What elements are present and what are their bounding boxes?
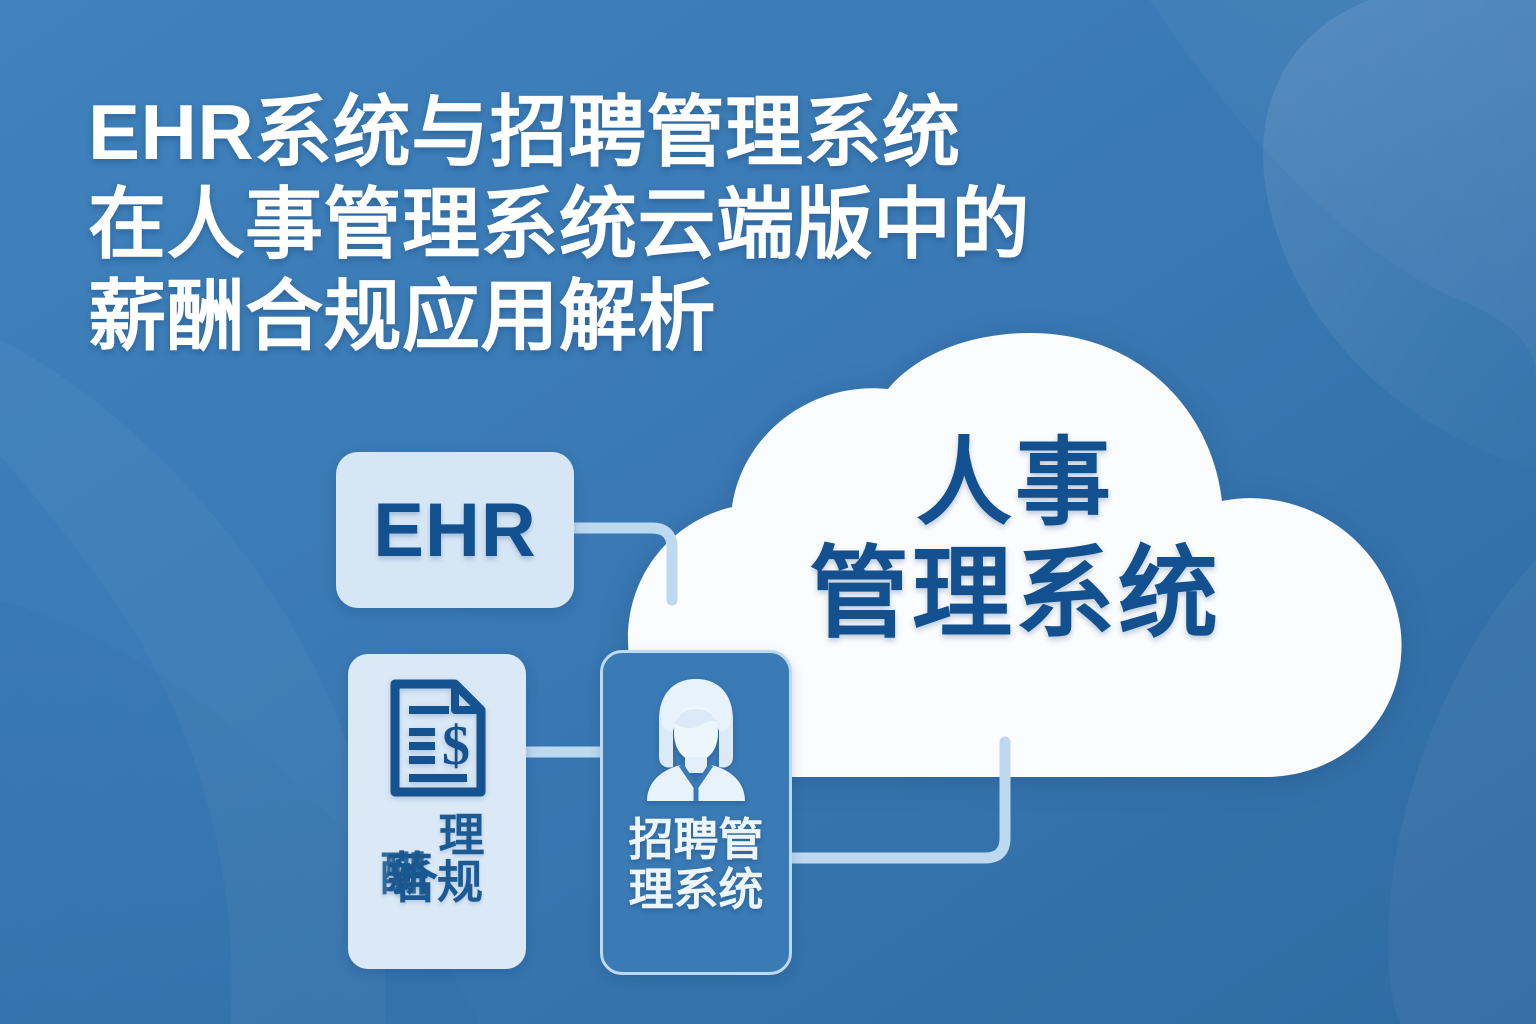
ehr-card[interactable]: EHR [336,452,574,608]
salary-card-label-line-1: 薪 酬 理 [391,812,484,859]
salary-glyph-tail: 理 [439,809,484,861]
document-dollar-icon: $ [385,678,489,798]
salary-compliance-card[interactable]: $ 薪 酬 理 合规 [348,654,526,969]
person-avatar-icon [637,675,755,803]
recruitment-card-label: 招聘管 理系统 [628,815,763,914]
recruitment-label-line-1: 招聘管 [628,815,763,865]
recruitment-card[interactable]: 招聘管 理系统 [600,650,792,975]
svg-text:$: $ [442,715,470,777]
ehr-card-label: EHR [373,487,536,574]
salary-glyph-b: 酬 [381,851,426,898]
recruitment-label-line-2: 理系统 [628,865,763,915]
salary-card-label: 薪 酬 理 合规 [391,812,484,906]
